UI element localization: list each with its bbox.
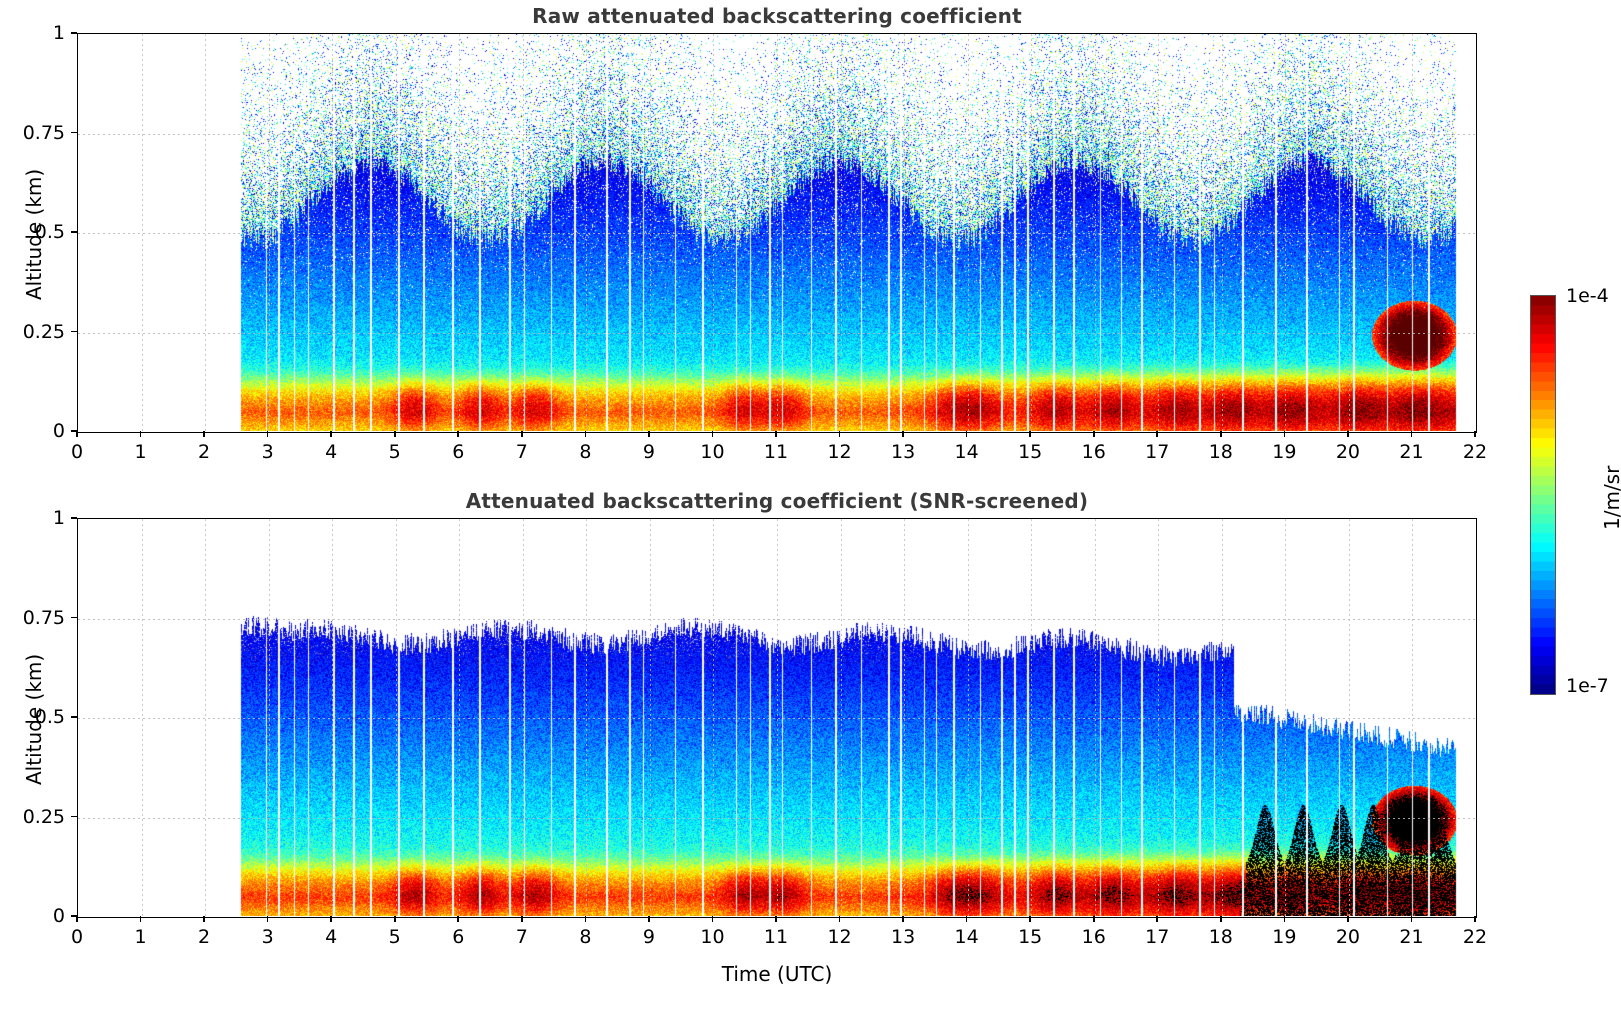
x-tick — [521, 431, 523, 437]
panel-title-raw: Raw attenuated backscattering coefficien… — [77, 4, 1477, 28]
x-tick-label: 5 — [389, 926, 401, 948]
x-tick — [203, 916, 205, 922]
colorbar-unit-label: 1/m/sr — [1600, 466, 1621, 530]
x-tick — [521, 916, 523, 922]
y-tick-label: 1 — [3, 507, 65, 529]
x-tick — [457, 431, 459, 437]
x-tick-label: 15 — [1018, 441, 1042, 463]
x-tick — [902, 431, 904, 437]
x-tick — [140, 916, 142, 922]
y-tick-label: 0.75 — [3, 607, 65, 629]
x-tick — [1284, 916, 1286, 922]
x-tick — [648, 431, 650, 437]
y-tick — [71, 331, 77, 333]
x-tick-label: 4 — [325, 441, 337, 463]
x-tick — [1220, 431, 1222, 437]
x-tick-label: 12 — [827, 926, 851, 948]
x-tick — [1347, 916, 1349, 922]
x-tick — [585, 431, 587, 437]
x-tick — [267, 431, 269, 437]
y-tick — [71, 716, 77, 718]
x-tick — [457, 916, 459, 922]
x-tick-label: 5 — [389, 441, 401, 463]
x-tick — [1347, 431, 1349, 437]
x-tick — [775, 916, 777, 922]
plot-axes-raw[interactable] — [77, 33, 1477, 433]
x-tick-label: 1 — [134, 441, 146, 463]
x-tick-label: 20 — [1336, 926, 1360, 948]
x-tick-label: 7 — [516, 441, 528, 463]
x-tick-label: 10 — [700, 441, 724, 463]
x-tick — [1093, 431, 1095, 437]
x-tick — [648, 916, 650, 922]
x-tick — [775, 431, 777, 437]
plot-axes-screened[interactable] — [77, 518, 1477, 918]
x-tick — [1284, 431, 1286, 437]
x-tick-label: 4 — [325, 926, 337, 948]
x-tick-label: 6 — [452, 441, 464, 463]
x-tick — [966, 431, 968, 437]
x-tick — [839, 916, 841, 922]
x-tick — [966, 916, 968, 922]
colorbar[interactable] — [1530, 295, 1556, 695]
x-tick — [712, 431, 714, 437]
x-tick — [839, 431, 841, 437]
x-tick — [1156, 916, 1158, 922]
x-tick — [1474, 431, 1476, 437]
x-tick-label: 13 — [891, 441, 915, 463]
x-tick-label: 12 — [827, 441, 851, 463]
y-tick — [71, 816, 77, 818]
x-tick — [140, 431, 142, 437]
x-tick-label: 1 — [134, 926, 146, 948]
x-tick — [902, 916, 904, 922]
x-tick — [330, 916, 332, 922]
x-tick-label: 2 — [198, 926, 210, 948]
x-tick-label: 6 — [452, 926, 464, 948]
x-tick-label: 8 — [579, 926, 591, 948]
figure-root: Raw attenuated backscattering coefficien… — [0, 0, 1621, 1020]
y-tick-label: 1 — [3, 22, 65, 44]
x-tick — [1474, 916, 1476, 922]
x-tick-label: 14 — [955, 441, 979, 463]
y-tick — [71, 132, 77, 134]
x-tick — [394, 916, 396, 922]
x-tick — [1411, 431, 1413, 437]
x-tick — [1029, 916, 1031, 922]
heatmap-canvas-screened — [78, 519, 1475, 916]
x-tick-label: 22 — [1463, 441, 1487, 463]
heatmap-canvas-raw — [78, 34, 1475, 431]
colorbar-min-label: 1e-7 — [1566, 675, 1609, 697]
x-tick — [203, 431, 205, 437]
x-tick-label: 13 — [891, 926, 915, 948]
x-tick-label: 19 — [1272, 441, 1296, 463]
x-tick — [1220, 916, 1222, 922]
y-tick-label: 0.25 — [3, 321, 65, 343]
x-tick-label: 2 — [198, 441, 210, 463]
x-tick-label: 8 — [579, 441, 591, 463]
x-tick-label: 10 — [700, 926, 724, 948]
x-tick — [76, 916, 78, 922]
x-tick-label: 0 — [71, 441, 83, 463]
x-tick — [1156, 431, 1158, 437]
x-tick-label: 3 — [262, 926, 274, 948]
x-tick — [1411, 916, 1413, 922]
heatmap-screened — [78, 519, 1476, 917]
x-tick — [1029, 431, 1031, 437]
x-tick — [394, 431, 396, 437]
panel-title-screened: Attenuated backscattering coefficient (S… — [77, 489, 1477, 513]
x-tick-label: 17 — [1145, 926, 1169, 948]
y-tick-label: 0.5 — [3, 706, 65, 728]
heatmap-raw — [78, 34, 1476, 432]
x-tick-label: 11 — [764, 926, 788, 948]
x-tick-label: 16 — [1082, 441, 1106, 463]
y-tick — [71, 517, 77, 519]
x-tick-label: 16 — [1082, 926, 1106, 948]
y-tick-label: 0 — [3, 420, 65, 442]
x-tick-label: 14 — [955, 926, 979, 948]
x-tick-label: 18 — [1209, 926, 1233, 948]
x-tick — [1093, 916, 1095, 922]
y-tick — [71, 617, 77, 619]
x-tick — [330, 431, 332, 437]
x-tick-label: 7 — [516, 926, 528, 948]
y-tick-label: 0.25 — [3, 806, 65, 828]
x-tick — [585, 916, 587, 922]
y-tick-label: 0.5 — [3, 221, 65, 243]
x-tick-label: 15 — [1018, 926, 1042, 948]
x-tick-label: 11 — [764, 441, 788, 463]
x-tick — [76, 431, 78, 437]
colorbar-max-label: 1e-4 — [1566, 285, 1609, 307]
x-tick-label: 18 — [1209, 441, 1233, 463]
y-tick-label: 0 — [3, 905, 65, 927]
y-tick — [71, 32, 77, 34]
x-tick — [712, 916, 714, 922]
x-tick-label: 17 — [1145, 441, 1169, 463]
x-tick — [267, 916, 269, 922]
x-tick-label: 19 — [1272, 926, 1296, 948]
x-tick-label: 9 — [643, 926, 655, 948]
x-tick-label: 21 — [1399, 441, 1423, 463]
x-tick-label: 22 — [1463, 926, 1487, 948]
x-tick-label: 3 — [262, 441, 274, 463]
x-tick-label: 0 — [71, 926, 83, 948]
y-tick-label: 0.75 — [3, 122, 65, 144]
x-tick-label: 21 — [1399, 926, 1423, 948]
y-tick — [71, 231, 77, 233]
x-axis-title: Time (UTC) — [722, 962, 833, 986]
x-tick-label: 9 — [643, 441, 655, 463]
x-tick-label: 20 — [1336, 441, 1360, 463]
